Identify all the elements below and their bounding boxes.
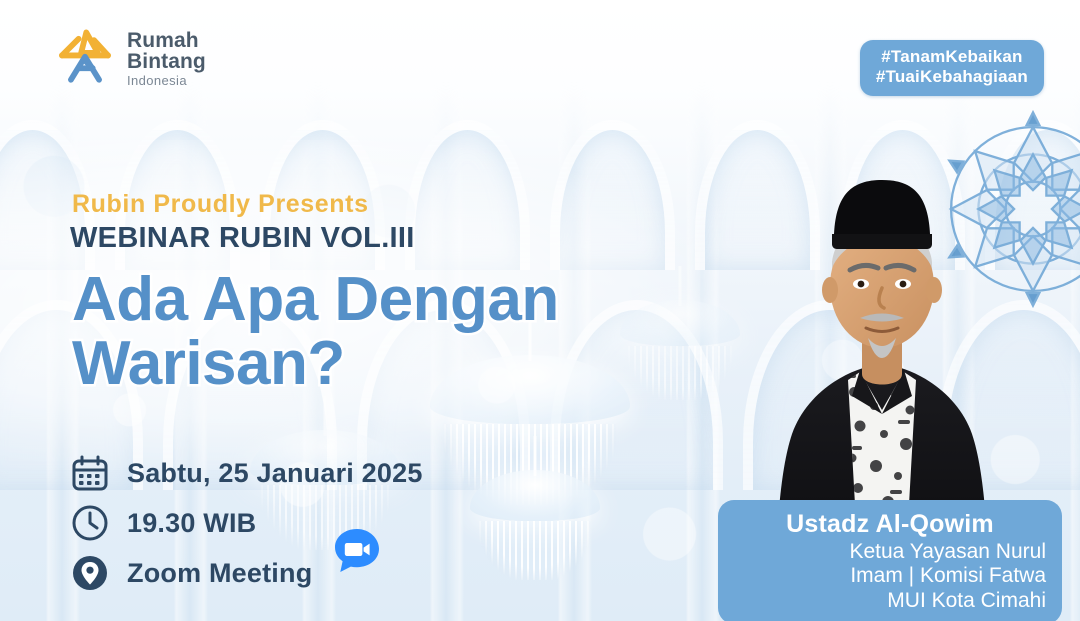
detail-text-time: 19.30 WIB bbox=[127, 508, 256, 539]
detail-row-date: Sabtu, 25 Januari 2025 bbox=[70, 448, 423, 498]
title-line-1: Ada Apa Dengan bbox=[72, 265, 559, 334]
detail-text-date: Sabtu, 25 Januari 2025 bbox=[127, 458, 423, 489]
brand-name-line3: Indonesia bbox=[127, 74, 206, 87]
speaker-role-line-3: MUI Kota Cimahi bbox=[734, 589, 1046, 613]
speaker-role-line-1: Ketua Yayasan Nurul bbox=[734, 540, 1046, 564]
location-pin-icon bbox=[70, 553, 110, 593]
brand-logo[interactable]: Rumah Bintang Indonesia bbox=[52, 26, 206, 90]
hashtag-line-1: #TanamKebaikan bbox=[876, 47, 1028, 67]
speaker-name: Ustadz Al-Qowim bbox=[734, 510, 1046, 539]
hashtag-line-2: #TuaiKebahagiaan bbox=[876, 67, 1028, 87]
calendar-icon bbox=[70, 453, 110, 493]
page-title: Ada Apa Dengan Warisan? bbox=[72, 268, 732, 397]
hashtag-badge: #TanamKebaikan #TuaiKebahagiaan bbox=[860, 40, 1044, 96]
event-details: Sabtu, 25 Januari 2025 19.30 WIB Zoom Me… bbox=[70, 448, 423, 598]
webinar-poster: Rumah Bintang Indonesia #TanamKebaikan #… bbox=[0, 0, 1080, 621]
kicker-text: Rubin Proudly Presents bbox=[72, 190, 369, 219]
detail-text-location: Zoom Meeting bbox=[127, 558, 312, 589]
speaker-role-line-2: Imam | Komisi Fatwa bbox=[734, 564, 1046, 588]
brand-name-line2: Bintang bbox=[127, 51, 206, 72]
brand-name-line1: Rumah bbox=[127, 30, 206, 51]
star-arrow-logo-icon bbox=[52, 26, 118, 90]
clock-icon bbox=[70, 503, 110, 543]
zoom-logo-icon[interactable] bbox=[333, 527, 381, 575]
title-line-2: Warisan? bbox=[72, 332, 732, 396]
speaker-card: Ustadz Al-Qowim Ketua Yayasan Nurul Imam… bbox=[718, 500, 1062, 621]
webinar-title: WEBINAR RUBIN VOL.III bbox=[70, 222, 415, 255]
speaker-portrait bbox=[748, 158, 1016, 558]
